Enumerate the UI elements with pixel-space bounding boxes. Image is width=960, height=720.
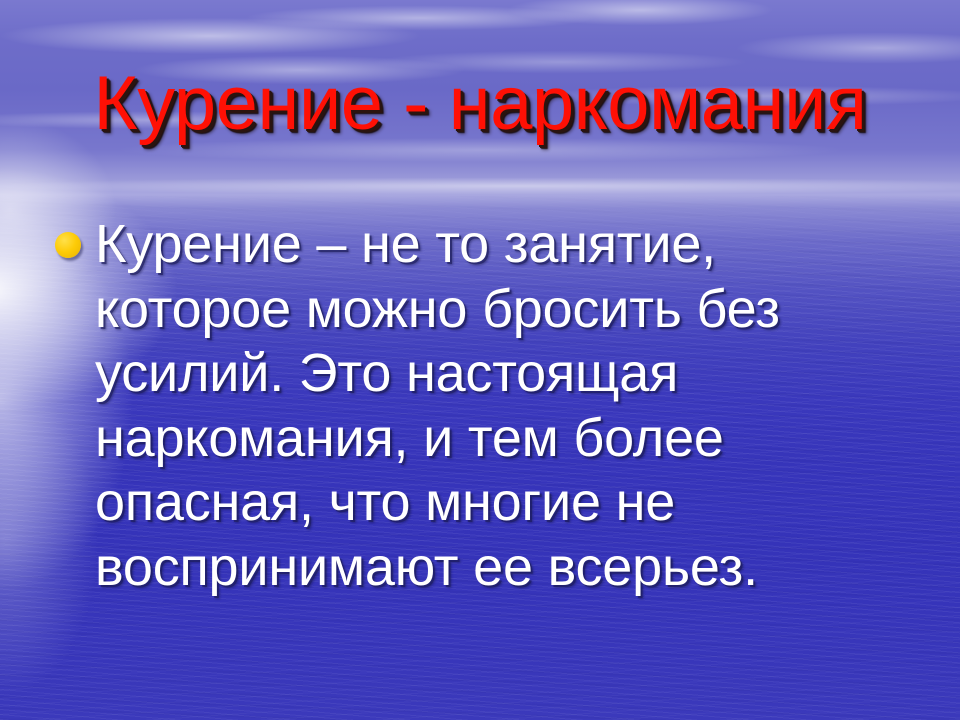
slide-title: Курение - наркомания — [0, 58, 960, 150]
body-line: усилий. Это настоящая — [95, 341, 855, 406]
body-line: опасная, что многие не — [95, 470, 855, 535]
bullet-list-item: Курение – не то занятие, которое можно б… — [55, 212, 855, 599]
presentation-slide: Курение - наркомания Курение – не то зан… — [0, 0, 960, 720]
body-line: которое можно бросить без — [95, 277, 855, 342]
body-line: воспринимают ее всерьез. — [95, 535, 855, 600]
body-line: Курение – не то занятие, — [95, 212, 855, 277]
slide-body-content: Курение – не то занятие, которое можно б… — [55, 212, 855, 599]
bullet-point-icon — [55, 232, 81, 258]
bullet-item-text: Курение – не то занятие, которое можно б… — [95, 212, 855, 599]
body-line: наркомания, и тем более — [95, 406, 855, 471]
